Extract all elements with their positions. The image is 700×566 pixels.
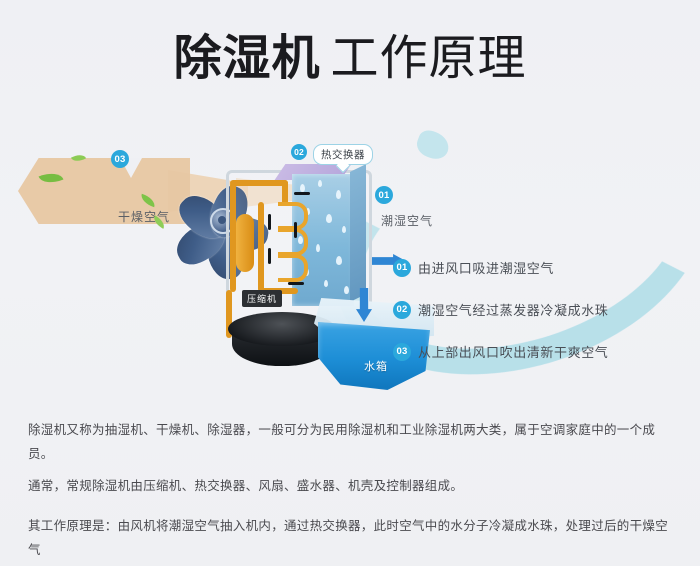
list-item: 01 由进风口吸进潮湿空气: [393, 258, 693, 277]
flow-arrow-right: [294, 192, 310, 195]
humid-air-label: 潮湿空气: [381, 212, 433, 229]
refrigerant-pipe: [230, 180, 288, 186]
refrigerant-pipe: [258, 202, 264, 292]
evaporator-side: [350, 164, 366, 302]
water-drop-icon: [336, 256, 342, 265]
water-drop-icon: [326, 214, 332, 223]
heat-exchanger-badge: 02: [291, 144, 307, 160]
refrigerant-accumulator: [236, 214, 254, 272]
step-badge: 02: [393, 301, 411, 319]
step-badge: 03: [393, 343, 411, 361]
page-title-emphasis: 除湿机: [173, 32, 320, 85]
compressor-label: 压缩机: [242, 290, 282, 307]
flow-arrow-down: [294, 222, 297, 238]
heat-exchanger-callout: 热交换器: [313, 144, 373, 165]
list-item: 02 潮湿空气经过蒸发器冷凝成水珠: [393, 300, 693, 319]
flow-arrow-up: [268, 214, 271, 230]
water-drop-icon: [336, 190, 341, 199]
step-badge: 01: [393, 259, 411, 277]
paragraph-2-line-1: 其工作原理是：由风机将潮湿空气抽入机内，通过热交换器，此时空气中的水分子冷凝成水…: [28, 514, 676, 562]
coil-bend: [278, 254, 308, 282]
water-drop-icon: [300, 184, 305, 192]
water-drop-icon: [344, 286, 349, 294]
step-text: 由进风口吸进潮湿空气: [418, 258, 554, 277]
refrigerant-pipe: [230, 182, 236, 292]
coil-bend: [278, 202, 308, 230]
list-item: 03 从上部出风口吹出清新干爽空气: [393, 342, 693, 361]
flow-arrow-up: [268, 248, 271, 264]
step-list: 01 由进风口吸进潮湿空气 02 潮湿空气经过蒸发器冷凝成水珠 03 从上部出风…: [393, 258, 693, 384]
paragraph-1-line-2: 通常，常规除湿机由压缩机、热交换器、风扇、盛水器、机壳及控制器组成。: [28, 474, 676, 498]
humid-air-badge: 01: [375, 186, 393, 204]
water-tank-label: 水箱: [364, 358, 388, 374]
water-drop-icon: [324, 280, 328, 287]
step-text: 从上部出风口吹出清新干爽空气: [418, 342, 608, 361]
water-drop-icon: [342, 226, 346, 233]
coil-bend: [278, 228, 308, 256]
step-text: 潮湿空气经过蒸发器冷凝成水珠: [418, 300, 608, 319]
body-copy: 除湿机又称为抽湿机、干燥机、除湿器，一般可分为民用除湿机和工业除湿机两大类，属于…: [28, 418, 676, 566]
flow-arrow-left: [288, 282, 304, 285]
page-title: 除湿机工作原理: [0, 34, 700, 84]
infographic-page: 除湿机工作原理: [0, 0, 700, 566]
dry-air-label: 干燥空气: [118, 208, 170, 225]
water-drop-icon: [316, 244, 320, 252]
dry-air-badge: 03: [111, 150, 129, 168]
water-drop-icon: [318, 180, 322, 187]
paragraph-1-line-1: 除湿机又称为抽湿机、干燥机、除湿器，一般可分为民用除湿机和工业除湿机两大类，属于…: [28, 418, 676, 466]
page-title-rest: 工作原理: [331, 32, 527, 85]
